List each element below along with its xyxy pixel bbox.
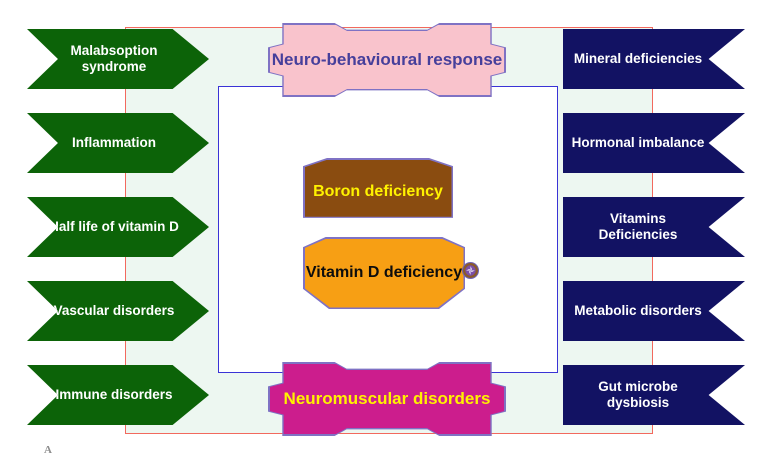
right-pennant-vitamins-deficiencies[interactable]: Vitamins Deficiencies <box>563 197 745 257</box>
left-chevron-malabsoption-syndrome[interactable]: Malabsoption syndrome <box>27 29 209 89</box>
diagram-canvas: Malabsoption syndrome Inflammation Half … <box>0 0 770 466</box>
right-pennant-label: Metabolic disorders <box>574 303 702 319</box>
rotate-handle-icon[interactable] <box>462 262 479 279</box>
right-pennant-label: Hormonal imbalance <box>572 135 705 151</box>
center-node-vitamin-d-deficiency[interactable]: Vitamin D deficiency <box>303 237 465 309</box>
top-node-label: Neuro-behavioural response <box>272 50 503 70</box>
boron-node-label: Boron deficiency <box>313 182 443 201</box>
right-pennant-metabolic-disorders[interactable]: Metabolic disorders <box>563 281 745 341</box>
left-chevron-label: Immune disorders <box>55 387 172 403</box>
left-chevron-half-life-of-vitamin-d[interactable]: Half life of vitamin D <box>27 197 209 257</box>
bottom-node-label: Neuromuscular disorders <box>284 389 491 409</box>
inner-frame <box>218 86 558 373</box>
center-node-boron-deficiency[interactable]: Boron deficiency <box>303 158 453 226</box>
left-chevron-label: Vascular disorders <box>54 303 175 319</box>
right-pennant-hormonal-imbalance[interactable]: Hormonal imbalance <box>563 113 745 173</box>
left-chevron-inflammation[interactable]: Inflammation <box>27 113 209 173</box>
right-pennant-gut-microbe-dysbiosis[interactable]: Gut microbe dysbiosis <box>563 365 745 425</box>
right-pennant-label: Gut microbe dysbiosis <box>569 379 707 411</box>
left-chevron-vascular-disorders[interactable]: Vascular disorders <box>27 281 209 341</box>
left-chevron-label: Half life of vitamin D <box>49 219 179 235</box>
figure-panel-label: A <box>44 444 52 456</box>
left-chevron-immune-disorders[interactable]: Immune disorders <box>27 365 209 425</box>
left-chevron-label: Inflammation <box>72 135 156 151</box>
left-chevron-label: Malabsoption syndrome <box>41 43 187 75</box>
right-pennant-label: Mineral deficiencies <box>574 51 702 67</box>
top-node-neuro-behavioural-response[interactable]: Neuro-behavioural response <box>268 23 506 97</box>
right-pennant-label: Vitamins Deficiencies <box>569 211 707 243</box>
right-pennant-mineral-deficiencies[interactable]: Mineral deficiencies <box>563 29 745 89</box>
vitamin-d-node-label: Vitamin D deficiency <box>306 263 462 282</box>
bottom-node-neuromuscular-disorders[interactable]: Neuromuscular disorders <box>268 362 506 436</box>
